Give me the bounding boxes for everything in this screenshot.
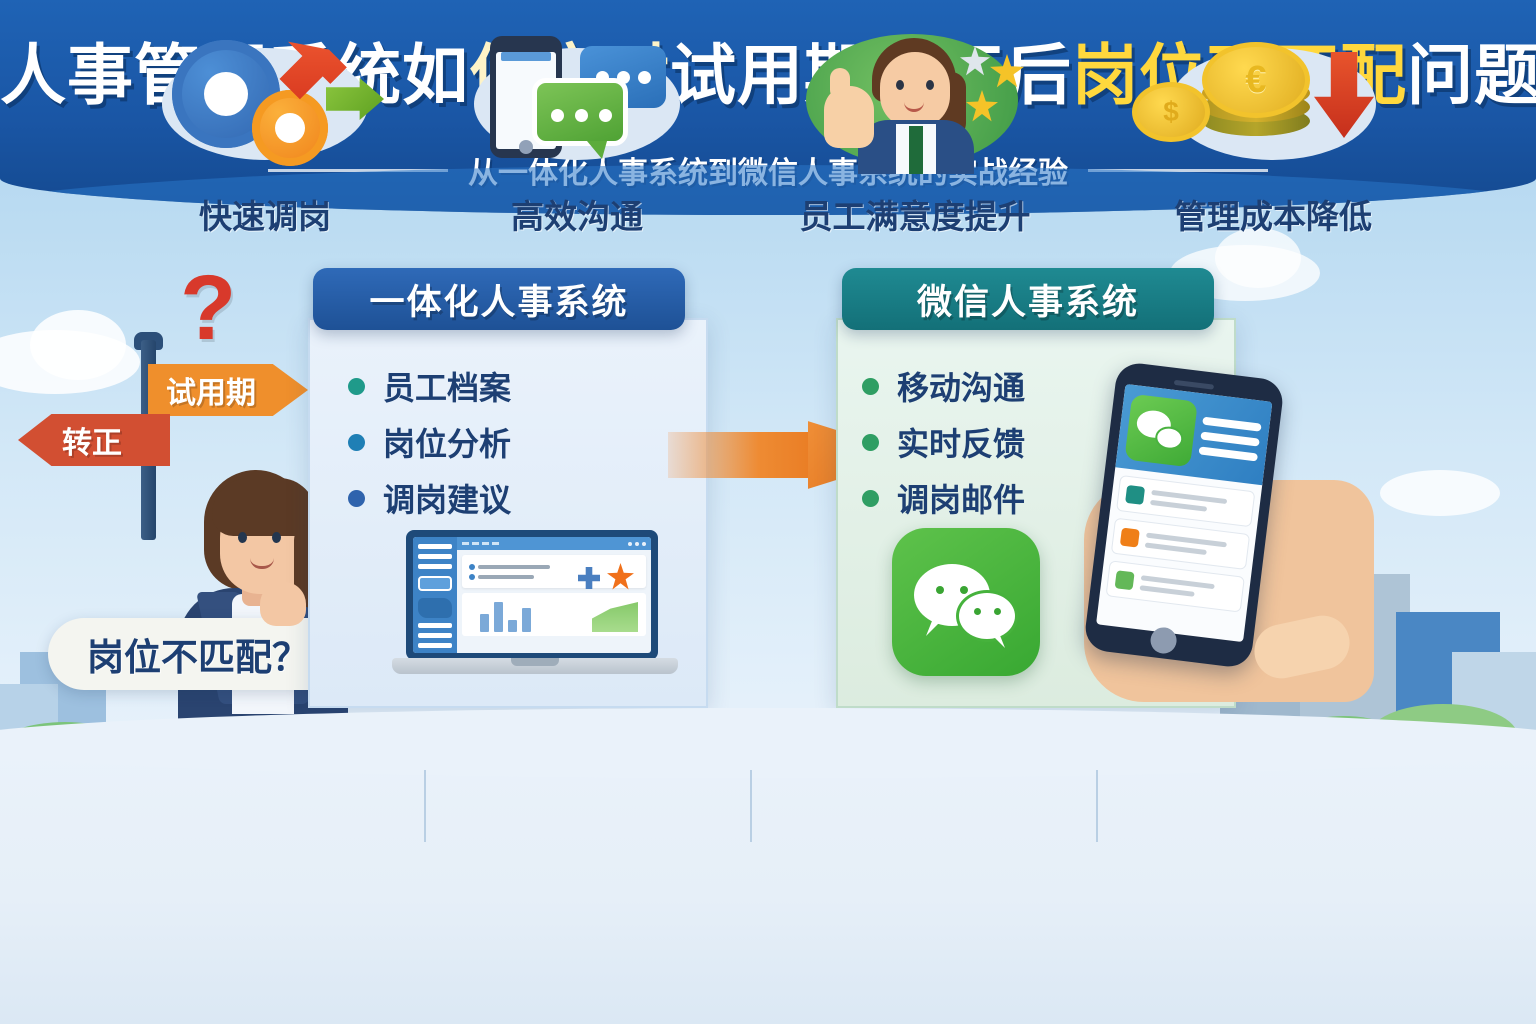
hand-holding-phone-icon — [1078, 370, 1378, 700]
panel-unified-heading: 一体化人事系统 — [313, 268, 685, 330]
infographic-canvas: 人事管理系统如何应对试用期转正后岗位不匹配问题 从一体化人事系统到微信人事系统的… — [0, 0, 1536, 1024]
bullet-label: 实时反馈 — [897, 419, 1025, 465]
bullet-label: 员工档案 — [383, 363, 511, 409]
bullet-dot-icon — [348, 490, 365, 507]
benefit-efficient-comm: 高效沟通 — [422, 24, 732, 238]
speech-bubble: 岗位不匹配？ — [48, 618, 348, 690]
benefit-cost-down: € $ 管理成本降低 — [1118, 24, 1428, 238]
bullet-label: 岗位分析 — [383, 419, 511, 465]
benefit-label: 高效沟通 — [422, 190, 732, 238]
bullet-dot-icon — [862, 378, 879, 395]
benefits-strip — [0, 740, 1536, 1024]
coin-euro: € — [1202, 42, 1310, 118]
list-item: 岗位分析 — [348, 414, 678, 470]
bullet-label: 调岗邮件 — [897, 475, 1025, 521]
question-mark-icon: ? — [180, 262, 236, 354]
panel-wechat-heading: 微信人事系统 — [842, 268, 1214, 330]
thumbs-up-person-icon — [800, 24, 1030, 174]
benefit-label: 快速调岗 — [110, 190, 420, 238]
gears-arrows-icon — [150, 24, 380, 174]
wechat-logo-icon — [892, 528, 1040, 676]
benefit-divider — [750, 770, 752, 842]
bullet-label: 调岗建议 — [383, 475, 511, 521]
list-item: 员工档案 — [348, 358, 678, 414]
list-item: 调岗建议 — [348, 470, 678, 526]
bullet-dot-icon — [348, 378, 365, 395]
panel-unified-heading-label: 一体化人事系统 — [369, 274, 628, 325]
speech-bubble-text: 岗位不匹配？ — [87, 627, 309, 681]
laptop-dashboard-icon — [392, 530, 678, 690]
benefit-label: 管理成本降低 — [1118, 190, 1428, 238]
panel-unified-bullet-list: 员工档案 岗位分析 调岗建议 — [348, 358, 678, 526]
bullet-label: 移动沟通 — [897, 363, 1025, 409]
cloud-icon — [30, 310, 126, 380]
sign-regularization-label: 转正 — [62, 418, 122, 462]
benefit-satisfaction-up: 员工满意度提升 — [760, 24, 1070, 238]
bullet-dot-icon — [862, 490, 879, 507]
panel-wechat-heading-label: 微信人事系统 — [917, 274, 1139, 325]
bullet-dot-icon — [862, 434, 879, 451]
benefit-label: 员工满意度提升 — [760, 190, 1070, 238]
bullet-dot-icon — [348, 434, 365, 451]
phone-chat-bubbles-icon — [462, 24, 692, 174]
benefit-fast-transfer: 快速调岗 — [110, 24, 420, 238]
benefit-divider — [1096, 770, 1098, 842]
coin-dollar: $ — [1132, 82, 1210, 142]
benefit-divider — [424, 770, 426, 842]
sign-probation-label: 试用期 — [166, 368, 256, 412]
coins-down-arrow-icon: € $ — [1158, 24, 1388, 174]
